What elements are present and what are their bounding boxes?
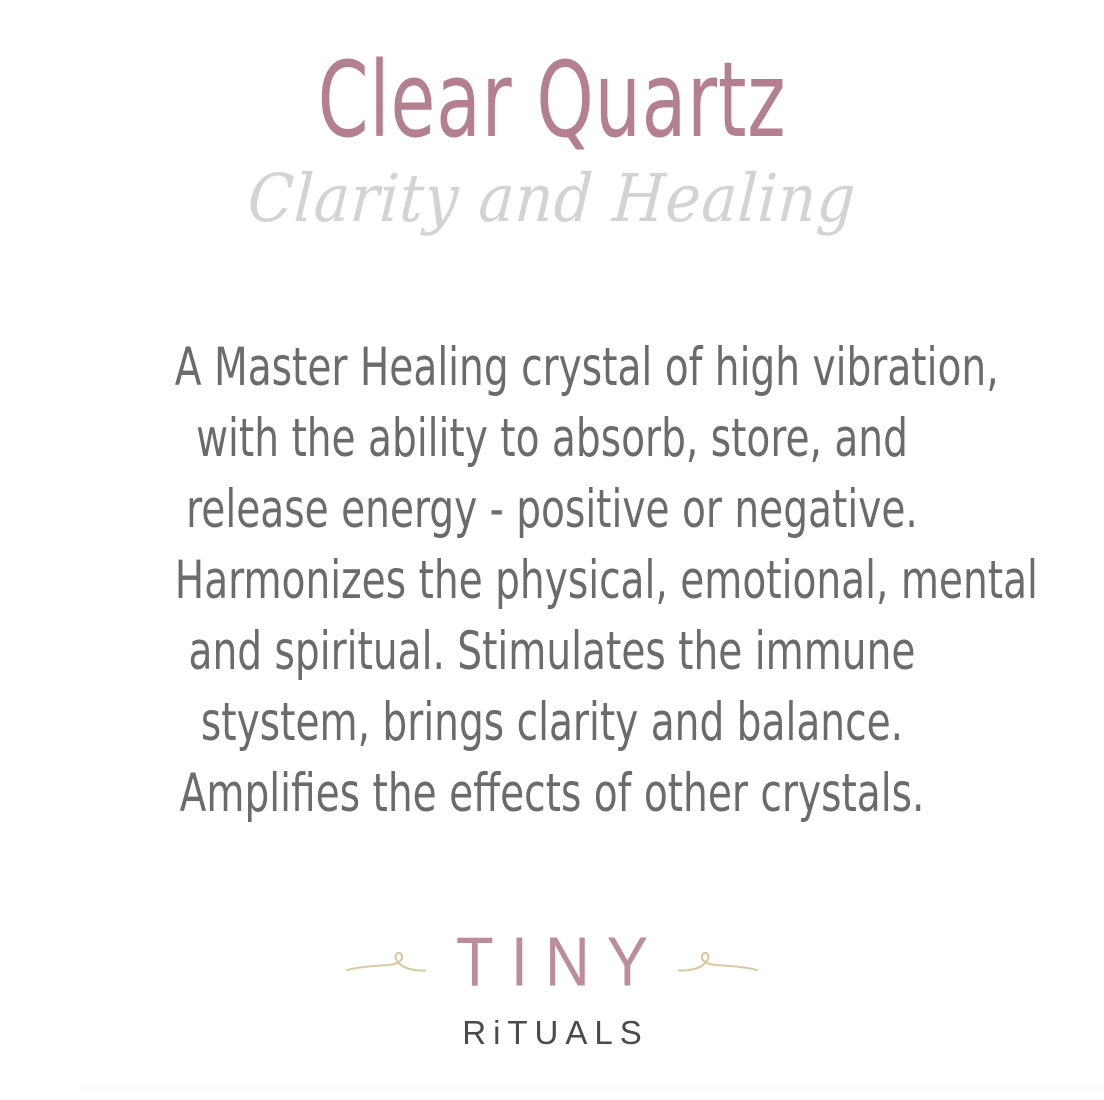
description-line: stystem, brings clarity and balance. — [175, 687, 929, 758]
page-title: Clear Quartz — [121, 46, 982, 155]
description-line: and spiritual. Stimulates the immune — [175, 616, 929, 687]
description-line: with the ability to absorb, store, and — [175, 403, 929, 474]
description-line: release energy - positive or negative. — [175, 474, 929, 545]
logo-brand-secondary: RiTUALS — [455, 1016, 649, 1049]
page-subtitle: Clarity and Healing — [53, 163, 1051, 236]
description-line: A Master Healing crystal of high vibrati… — [175, 332, 929, 403]
logo-brand-primary: TINY — [439, 928, 665, 997]
brand-logo: TINY RiTUALS — [0, 932, 1104, 1049]
description-line: Harmonizes the physical, emotional, ment… — [175, 545, 929, 616]
description-block: A Master Healing crystal of high vibrati… — [92, 332, 1012, 829]
logo-primary-row: TINY — [345, 932, 759, 994]
description-line: Amplifies the effects of other crystals. — [175, 758, 929, 829]
flourish-swirl-left-icon — [345, 940, 431, 986]
bottom-divider — [80, 1087, 1104, 1089]
crystal-info-card: Clear Quartz Clarity and Healing A Maste… — [0, 0, 1104, 1100]
header: Clear Quartz Clarity and Healing — [0, 0, 1104, 236]
flourish-swirl-right-icon — [673, 940, 759, 986]
